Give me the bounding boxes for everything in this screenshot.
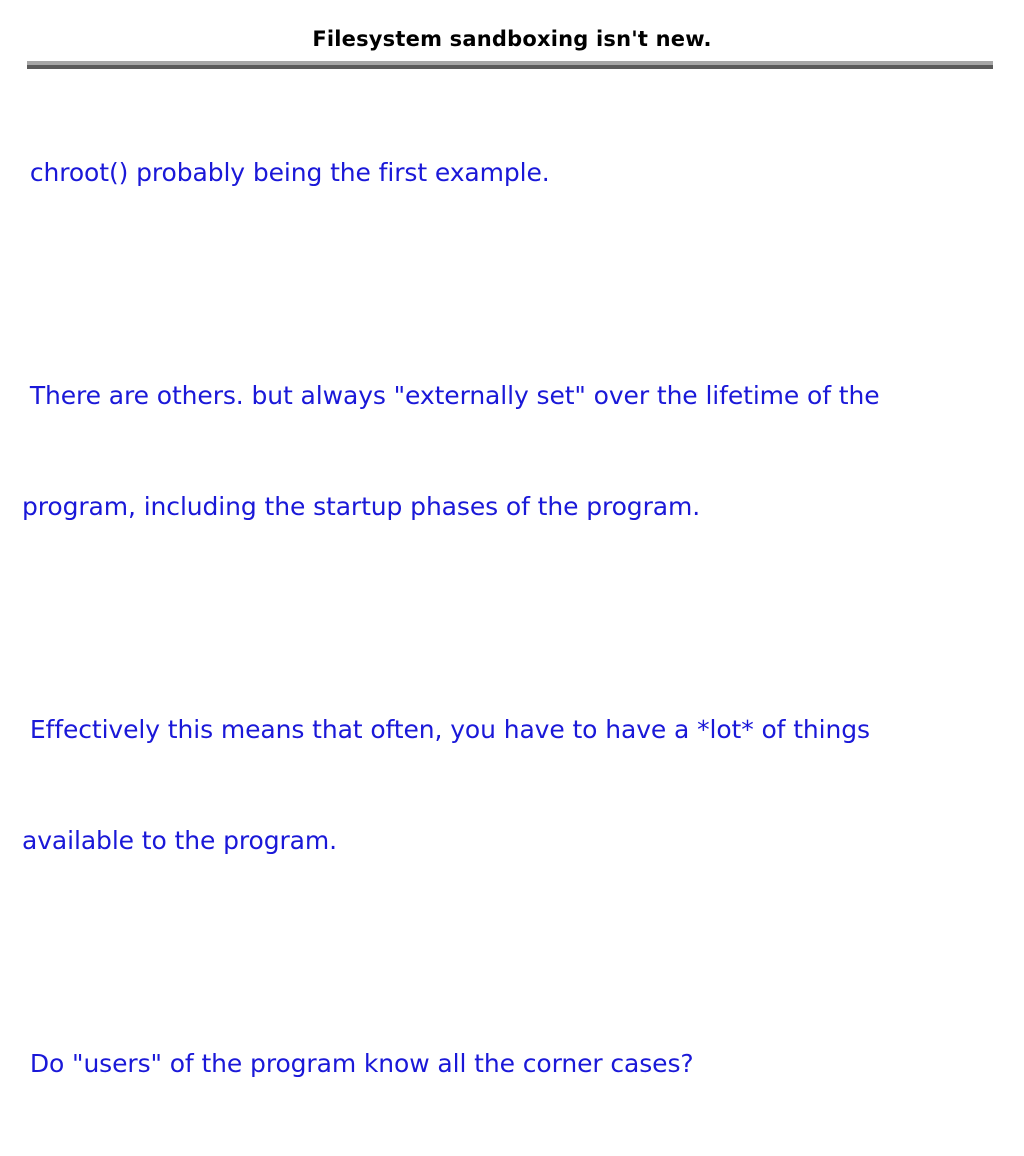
- slide-body: chroot() probably being the first exampl…: [22, 80, 1006, 1156]
- paragraph-line: chroot() probably being the first exampl…: [22, 154, 1006, 191]
- paragraph-line: Effectively this means that often, you h…: [22, 711, 1006, 748]
- paragraph-line: Do "users" of the program know all the c…: [22, 1045, 1006, 1082]
- paragraph-line: program, including the startup phases of…: [22, 488, 1006, 525]
- paragraph-line: There are others. but always "externally…: [22, 377, 1006, 414]
- slide-paragraph: There are others. but always "externally…: [22, 303, 1006, 599]
- slide-title: Filesystem sandboxing isn't new.: [0, 26, 1024, 52]
- paragraph-spacer: [22, 933, 1006, 971]
- paragraph-spacer: [22, 265, 1006, 303]
- slide-paragraph: Effectively this means that often, you h…: [22, 637, 1006, 933]
- paragraph-line: available to the program.: [22, 822, 1006, 859]
- slide-paragraph: Do "users" of the program know all the c…: [22, 971, 1006, 1156]
- paragraph-spacer: [22, 599, 1006, 637]
- slide: Filesystem sandboxing isn't new. chroot(…: [0, 0, 1024, 768]
- slide-paragraph: chroot() probably being the first exampl…: [22, 80, 1006, 265]
- title-divider: [27, 61, 993, 69]
- divider-band-dark: [27, 65, 993, 69]
